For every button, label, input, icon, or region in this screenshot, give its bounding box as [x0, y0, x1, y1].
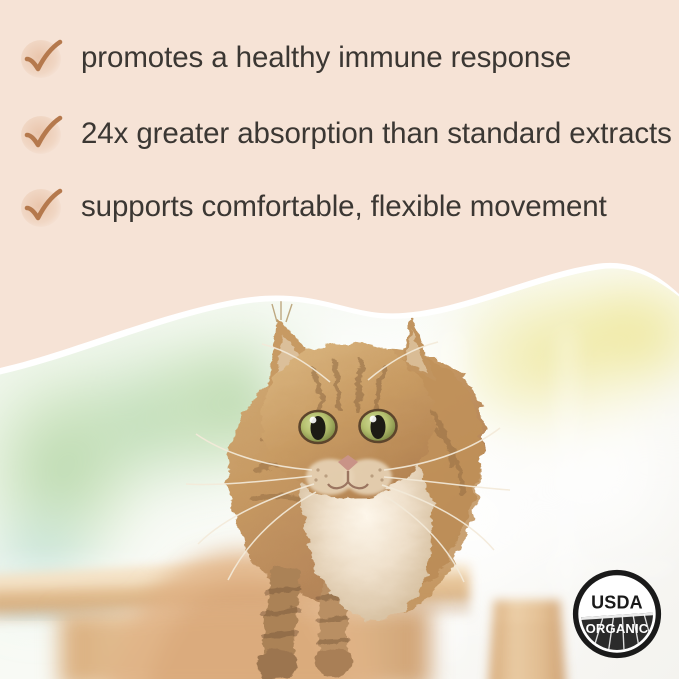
check-icon — [14, 106, 70, 162]
seal-top-text: USDA — [591, 593, 643, 613]
check-icon — [14, 30, 70, 86]
benefits-list: promotes a healthy immune response 24x g… — [0, 0, 679, 300]
check-icon — [14, 179, 70, 235]
seal-bottom-text: ORGANIC — [586, 621, 649, 636]
usda-organic-seal: USDA ORGANIC — [572, 569, 662, 659]
benefit-label: supports comfortable, flexible movement — [81, 192, 607, 222]
benefit-item-2: supports comfortable, flexible movement — [0, 179, 679, 235]
product-benefits-canvas: promotes a healthy immune response 24x g… — [0, 0, 679, 679]
benefit-item-0: promotes a healthy immune response — [0, 30, 679, 86]
benefit-label: promotes a healthy immune response — [81, 43, 571, 73]
benefit-item-1: 24x greater absorption than standard ext… — [0, 106, 679, 162]
benefit-label: 24x greater absorption than standard ext… — [81, 119, 672, 149]
